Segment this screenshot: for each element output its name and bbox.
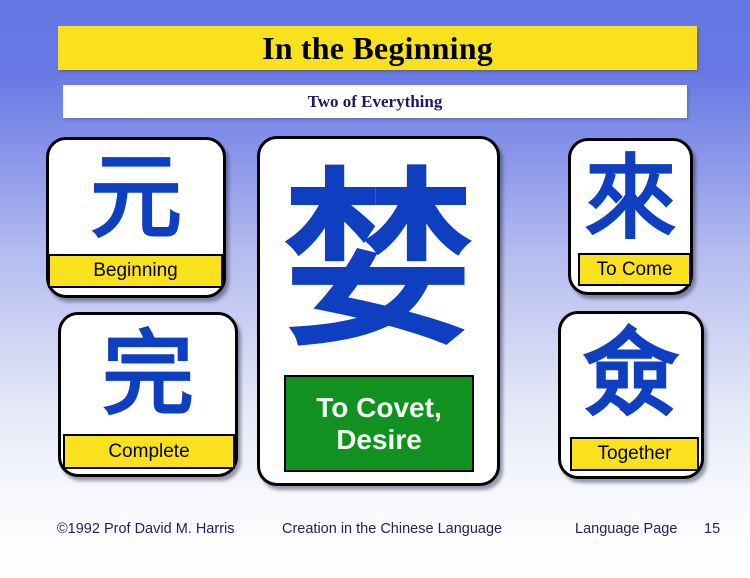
- card-label-complete: Complete: [63, 434, 235, 469]
- chinese-character-lai: 來: [571, 147, 690, 251]
- footer-copyright: ©1992 Prof David M. Harris: [57, 521, 235, 537]
- page-title: In the Beginning: [262, 32, 493, 64]
- character-card-together: 僉 Together: [558, 311, 704, 479]
- character-card-complete: 完 Complete: [58, 312, 238, 477]
- chinese-character-yuan: 元: [49, 148, 223, 248]
- card-label-to-come: To Come: [578, 253, 691, 286]
- card-label-together: Together: [570, 437, 699, 471]
- character-card-covet: 婪 To Covet, Desire: [257, 136, 500, 486]
- card-label-covet-line2: Desire: [336, 424, 422, 455]
- slide-canvas: In the Beginning Two of Everything 元 Beg…: [0, 0, 750, 578]
- card-label-covet-desire: To Covet, Desire: [284, 375, 474, 472]
- page-subtitle: Two of Everything: [308, 92, 443, 112]
- character-card-beginning: 元 Beginning: [46, 137, 226, 298]
- slide-title-bar: In the Beginning: [58, 26, 697, 70]
- chinese-character-lan: 婪: [260, 159, 497, 364]
- footer-page-number: 15: [704, 521, 720, 537]
- footer-page-label: Language Page: [575, 521, 677, 537]
- card-label-beginning: Beginning: [48, 254, 223, 288]
- footer-presentation-title: Creation in the Chinese Language: [282, 521, 502, 537]
- slide-footer: ©1992 Prof David M. Harris Creation in t…: [0, 518, 750, 540]
- card-label-covet-line1: To Covet,: [316, 392, 441, 423]
- slide-subtitle-bar: Two of Everything: [63, 85, 687, 118]
- chinese-character-wan: 完: [61, 323, 235, 427]
- chinese-character-qian: 僉: [561, 320, 701, 428]
- character-card-to-come: 來 To Come: [568, 138, 693, 295]
